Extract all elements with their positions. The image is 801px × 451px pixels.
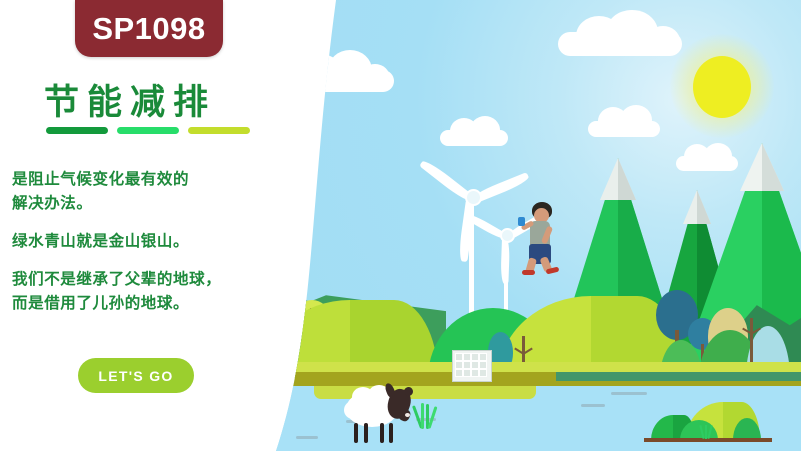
- shore-strip: [256, 362, 801, 372]
- accent-bar-3: [188, 127, 250, 134]
- code-badge: SP1098: [75, 0, 223, 57]
- code-badge-label: SP1098: [92, 11, 205, 47]
- water-ripple: [256, 400, 268, 403]
- eco-poster: SP1098 节能减排 是阻止气候变化最有效的 解决办法。 绿水青山就是金山银山…: [0, 0, 801, 451]
- sun-icon: [693, 56, 751, 118]
- cloud-icon: [286, 50, 394, 92]
- water-ripple: [296, 436, 318, 439]
- slogan-paragraph: 绿水青山就是金山银山。: [12, 230, 302, 254]
- solar-panel-icon: [452, 350, 492, 382]
- slogan-paragraph: 是阻止气候变化最有效的 解决办法。: [12, 168, 302, 216]
- slogan-paragraph: 我们不是继承了父辈的地球， 而是借用了儿孙的地球。: [12, 268, 302, 316]
- accent-bar-2: [117, 127, 179, 134]
- slogan-list: 是阻止气候变化最有效的 解决办法。 绿水青山就是金山银山。 我们不是继承了父辈的…: [12, 168, 302, 330]
- cloud-icon: [558, 10, 682, 56]
- illustration-scene: [256, 0, 801, 451]
- water-ripple: [581, 404, 605, 407]
- cloud-icon: [588, 105, 660, 137]
- runner-figure: [518, 202, 564, 276]
- lets-go-button[interactable]: LET'S GO: [78, 358, 194, 393]
- water-ripple: [611, 392, 647, 395]
- page-title: 节能减排: [44, 74, 216, 125]
- grass-icon: [414, 403, 436, 429]
- accent-bar-1: [46, 127, 108, 134]
- grass-icon: [699, 425, 713, 439]
- shore-strip-green: [556, 372, 801, 381]
- accent-bars: [46, 127, 250, 134]
- cloud-icon: [440, 116, 508, 146]
